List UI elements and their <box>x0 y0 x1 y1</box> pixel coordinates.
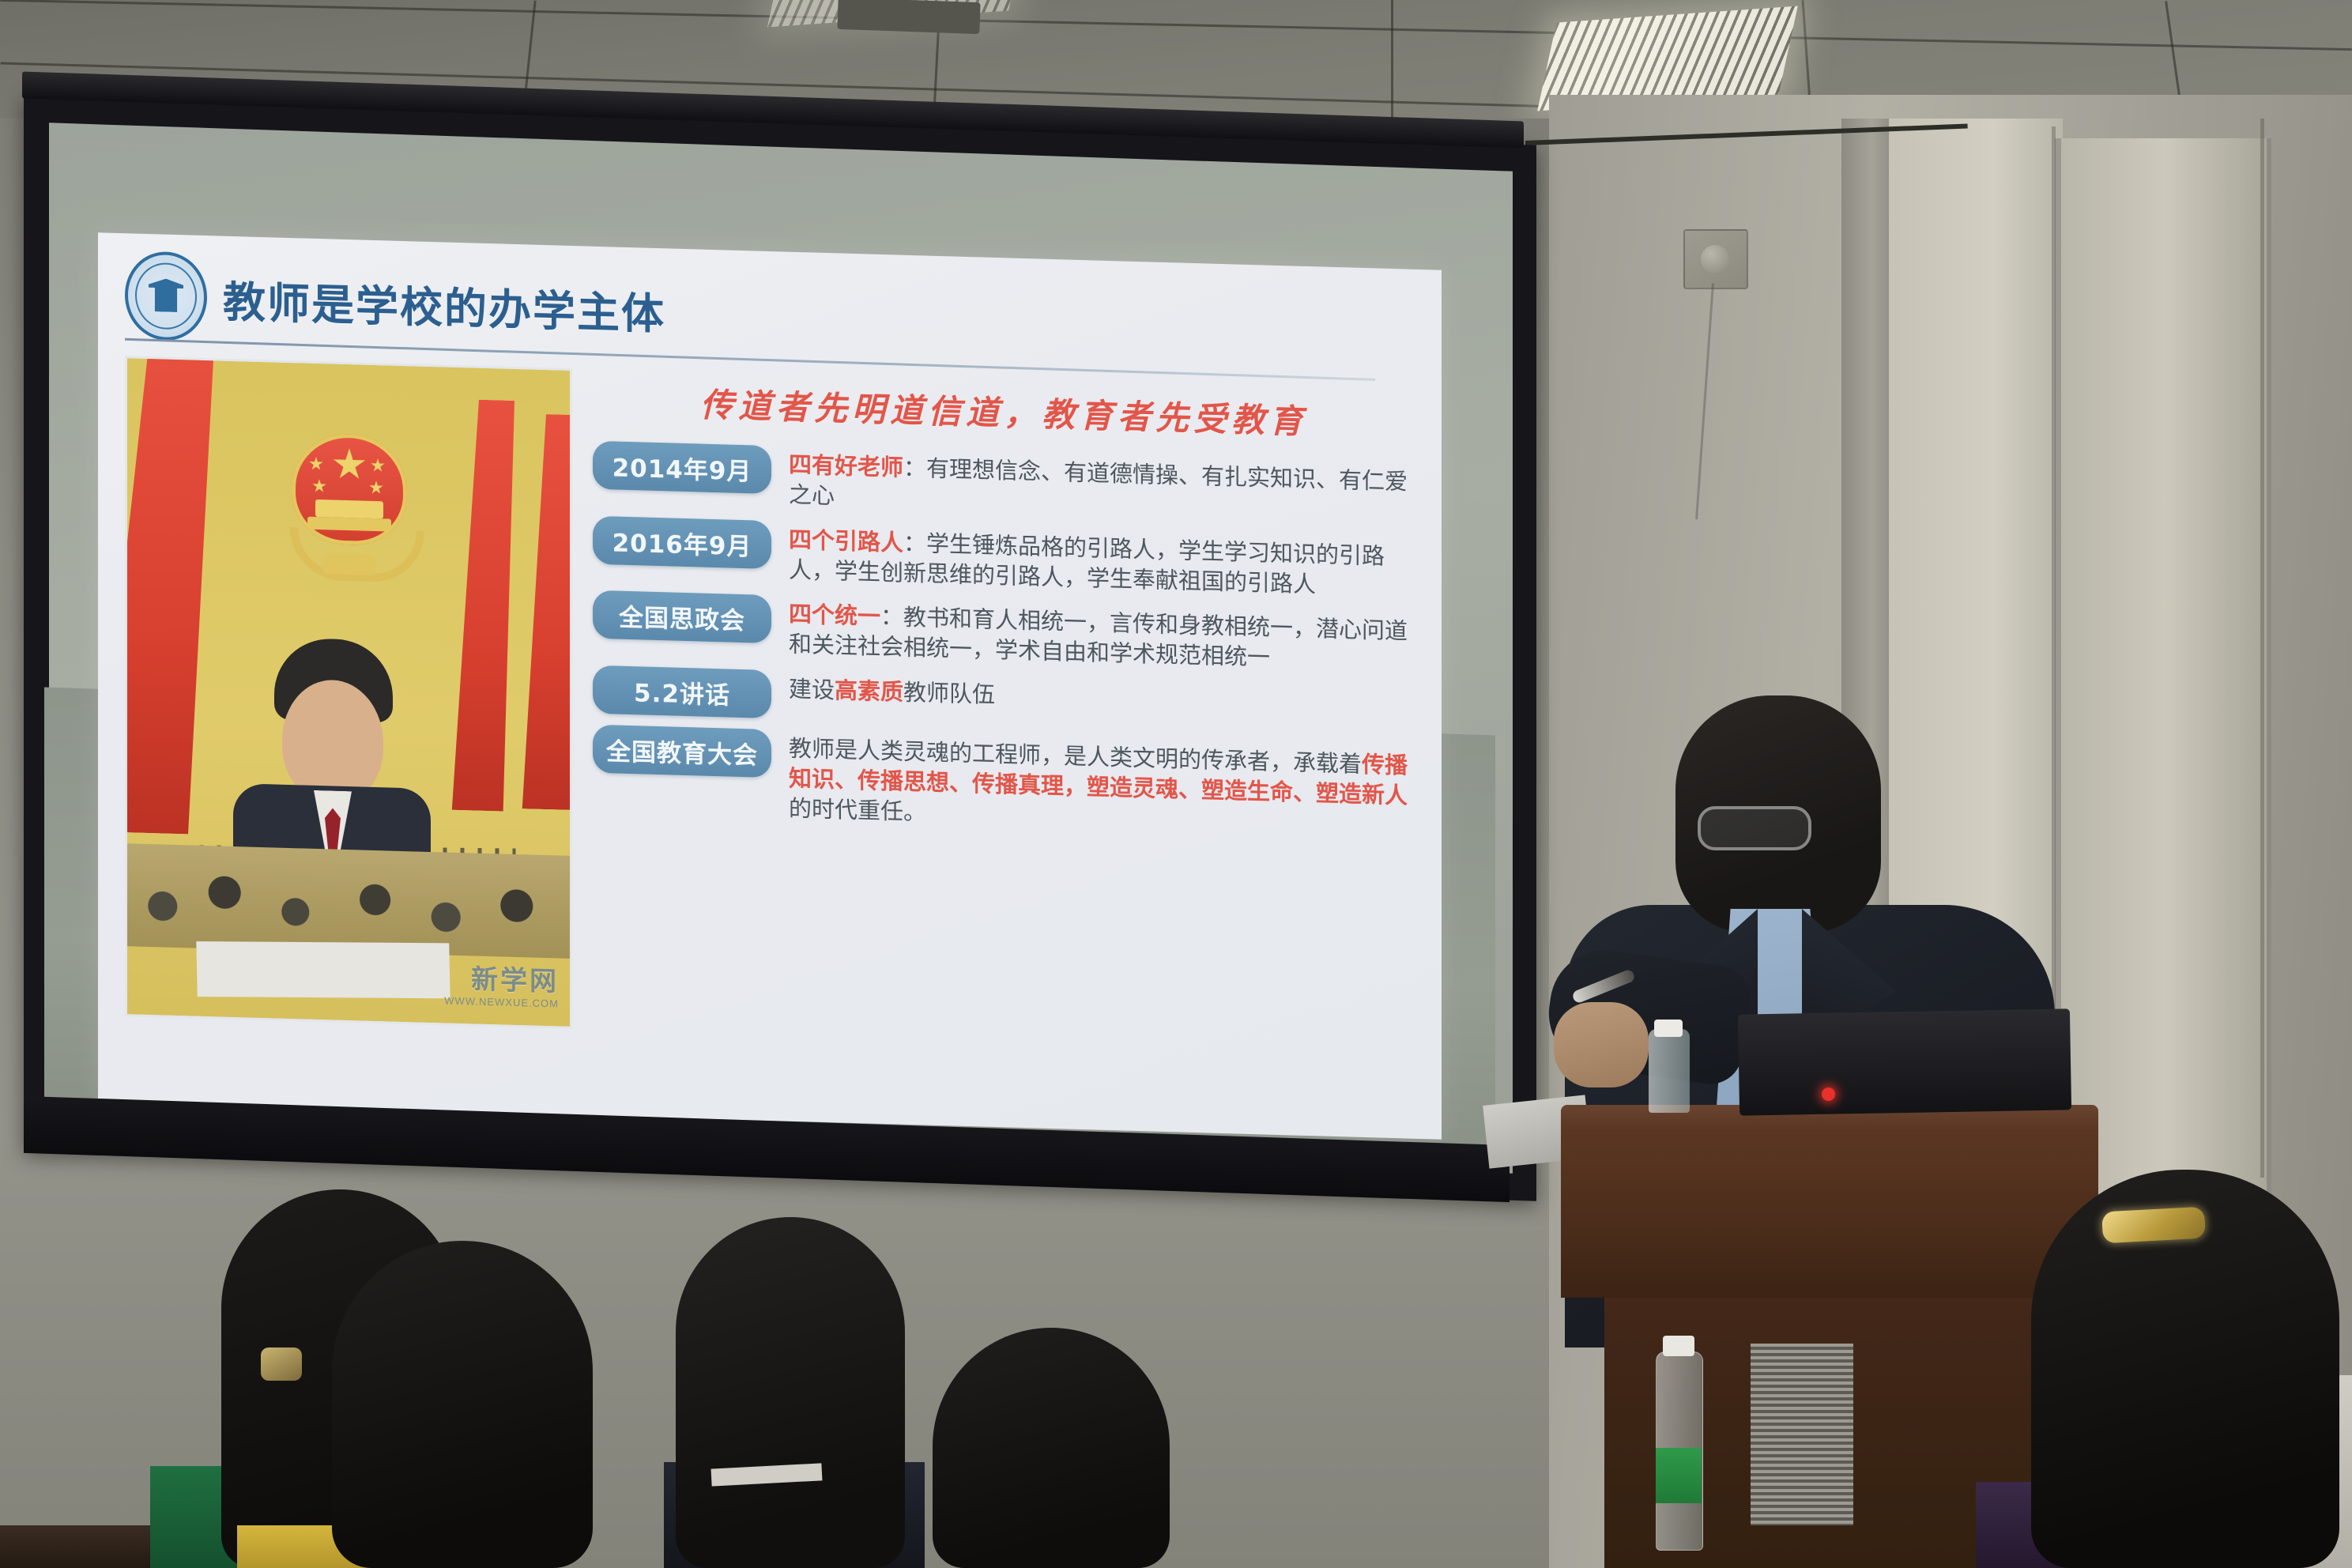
row-badge: 全国教育大会 <box>593 724 771 777</box>
emblem-cog <box>323 553 375 575</box>
row-text: 四个引路人：学生锤炼品格的引路人，学生学习知识的引路人，学生创新思维的引路人，学… <box>789 521 1415 602</box>
lecture-hall-scene: 教师是学校的办学主体 <box>0 0 2352 1568</box>
presenter-hand <box>1554 1002 1649 1087</box>
row-separator: ： <box>903 529 926 556</box>
row-text: 建设高素质教师队伍 <box>789 670 1415 721</box>
red-flag <box>125 356 214 835</box>
row-separator: ： <box>880 603 903 631</box>
presentation-slide: 教师是学校的办学主体 <box>98 232 1442 1139</box>
list-item: 2016年9月 四个引路人：学生锤炼品格的引路人，学生学习知识的引路人，学生创新… <box>593 515 1415 602</box>
row-separator: ： <box>903 454 926 482</box>
row-body-post: 教师队伍 <box>903 678 995 707</box>
list-item <box>332 1241 593 1568</box>
slide-photo: 新学网 WWW.NEWXUE.COM <box>125 356 572 1029</box>
list-item: 5.2讲话 建设高素质教师队伍 <box>593 665 1415 736</box>
water-bottle-label <box>1656 1448 1702 1503</box>
water-bottle-desktop <box>1649 1029 1690 1113</box>
hair-clip-icon <box>261 1347 302 1381</box>
podium-vent-grille <box>1751 1344 1853 1525</box>
national-emblem-icon <box>282 432 416 579</box>
door-frame <box>2055 138 2271 1197</box>
watermark-url: WWW.NEWXUE.COM <box>444 995 559 1008</box>
row-body-keyword: 高素质 <box>835 677 903 705</box>
laptop-power-led <box>1822 1087 1835 1101</box>
fixture-knob <box>1701 245 1729 273</box>
row-keyword: 四个统一 <box>789 601 880 630</box>
list-item: 全国思政会 四个统一：教书和育人相统一，言传和身教相统一，潜心问道和关注社会相统… <box>593 590 1415 677</box>
red-flag <box>443 398 514 812</box>
slide-rows-list: 2014年9月 四有好老师：有理想信念、有道德情操、有扎实知识、有仁爱之心 20… <box>593 441 1415 841</box>
row-text: 四个统一：教书和育人相统一，言传和身教相统一，潜心问道和关注社会相统一，学术自由… <box>789 596 1415 677</box>
water-bottle-desktop-cap <box>1654 1020 1683 1037</box>
row-badge: 2016年9月 <box>593 515 771 568</box>
emblem-gate <box>315 499 383 518</box>
slide-headline: 传道者先明道信道，教育者先受教育 <box>593 375 1415 447</box>
podium-front-panel <box>1561 1132 2098 1298</box>
row-badge: 2014年9月 <box>593 441 771 494</box>
row-body-separator: ， <box>1064 772 1087 800</box>
red-flag <box>513 413 572 810</box>
row-text: 教师是人类灵魂的工程师，是人类文明的传承者，承载着传播知识、传播思想、传播真理，… <box>789 729 1415 841</box>
presenter-glasses-icon <box>1698 806 1811 850</box>
hair-clip-icon <box>2101 1207 2206 1244</box>
row-body-pre: 建设 <box>789 675 835 703</box>
photo-watermark: 新学网 WWW.NEWXUE.COM <box>444 965 559 1008</box>
photo-podium <box>196 941 450 998</box>
wall-seam-right <box>2260 119 2264 1178</box>
slide-content-column: 传道者先明道信道，教育者先受教育 2014年9月 四有好老师：有理想信念、有道德… <box>593 369 1415 1053</box>
row-keyword: 四有好老师 <box>789 451 903 481</box>
row-badge: 5.2讲话 <box>593 665 771 718</box>
wall-speaker-fixture <box>1683 229 1748 289</box>
slide-header: 教师是学校的办学主体 <box>125 251 1415 375</box>
row-keyword: 四个引路人 <box>789 526 903 556</box>
photo-audience <box>127 843 570 959</box>
photo-speaker <box>262 637 402 878</box>
water-bottle-cap <box>1663 1336 1694 1356</box>
row-body-post: 的时代重任。 <box>789 795 926 826</box>
list-item: 全国教育大会 教师是人类灵魂的工程师，是人类文明的传承者，承载着传播知识、传播思… <box>593 724 1415 841</box>
watermark-text: 新学网 <box>444 965 559 995</box>
list-item <box>933 1328 1170 1568</box>
slide-title: 教师是学校的办学主体 <box>223 266 665 341</box>
projector-mount <box>837 0 980 34</box>
university-seal-icon <box>125 251 207 341</box>
row-body-keyword-2: 塑造灵魂、塑造生命、塑造新人 <box>1087 773 1408 808</box>
laptop-on-podium <box>1738 1008 2071 1115</box>
list-item <box>676 1217 905 1568</box>
row-badge: 全国思政会 <box>593 590 771 643</box>
row-text: 四有好老师：有理想信念、有道德情操、有扎实知识、有仁爱之心 <box>789 447 1415 528</box>
list-item: 2014年9月 四有好老师：有理想信念、有道德情操、有扎实知识、有仁爱之心 <box>593 441 1415 528</box>
